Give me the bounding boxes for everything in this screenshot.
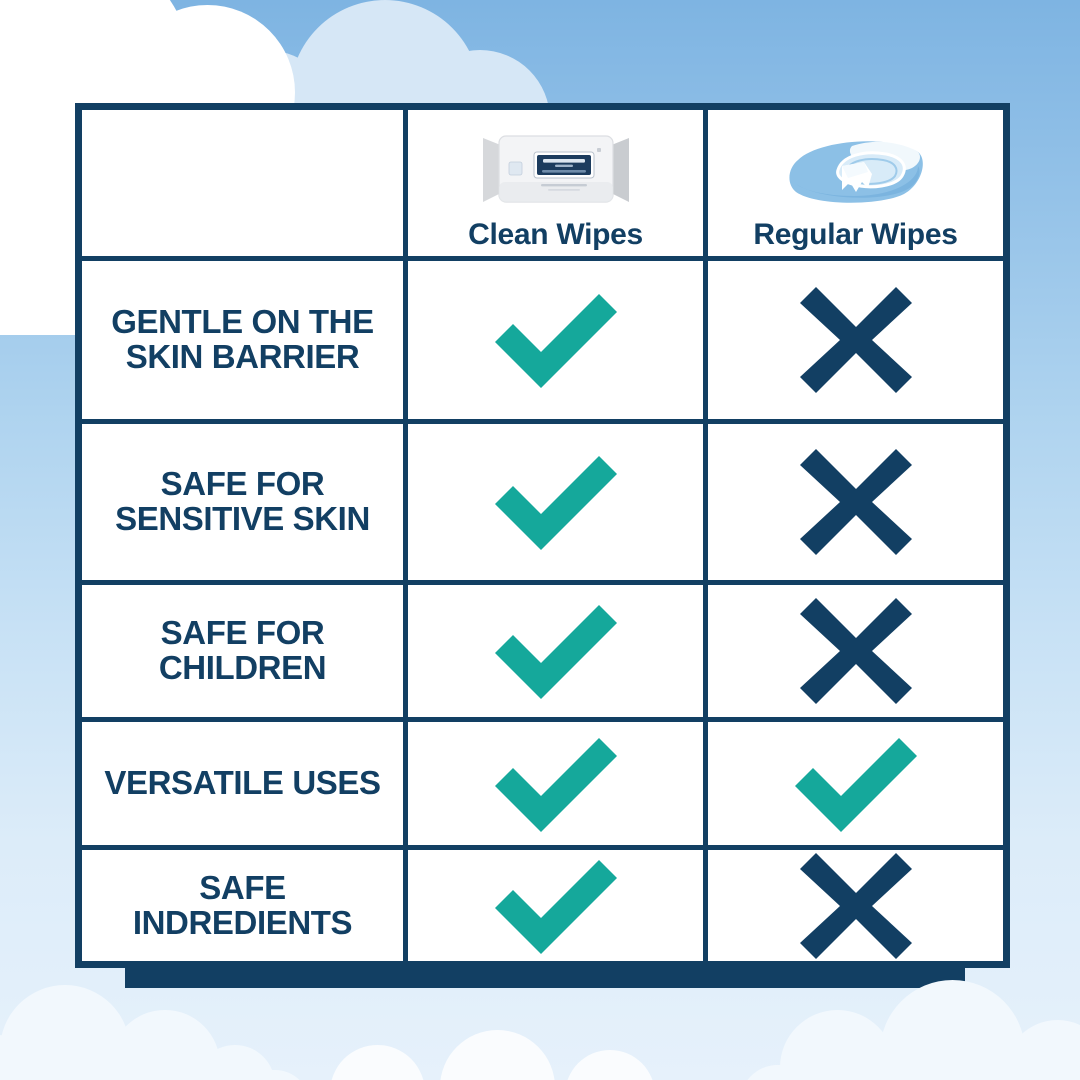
cloud-bottom-center — [300, 1025, 720, 1080]
clean-wipes-cell — [408, 585, 708, 717]
regular-wipes-cell — [708, 424, 1003, 580]
feature-cell: SAFE INDREDIENTS — [82, 850, 408, 961]
table-drop-bar — [125, 966, 965, 988]
clean-wipes-cell — [408, 722, 708, 845]
cross-icon — [794, 281, 918, 399]
regular-wipes-cell — [708, 585, 1003, 717]
table-row: VERSATILE USES — [82, 722, 1003, 850]
table-row: GENTLE ON THE SKIN BARRIER — [82, 261, 1003, 424]
feature-label: VERSATILE USES — [96, 766, 388, 801]
feature-cell: SAFE FOR SENSITIVE SKIN — [82, 424, 408, 580]
header-label-clean-wipes: Clean Wipes — [468, 219, 643, 251]
table-header-row: Clean Wipes — [82, 110, 1003, 261]
wipes-pack-white-icon — [473, 123, 639, 215]
check-icon — [481, 728, 631, 840]
table-row: SAFE FOR CHILDREN — [82, 585, 1003, 722]
header-cell-regular-wipes: Regular Wipes — [708, 110, 1003, 256]
check-icon — [481, 284, 631, 396]
check-icon — [481, 850, 631, 962]
feature-label: SAFE FOR CHILDREN — [82, 616, 403, 686]
regular-wipes-cell — [708, 850, 1003, 961]
feature-cell: VERSATILE USES — [82, 722, 408, 845]
feature-cell: SAFE FOR CHILDREN — [82, 585, 408, 717]
check-icon — [481, 446, 631, 558]
feature-label: SAFE FOR SENSITIVE SKIN — [82, 467, 403, 537]
header-cell-blank — [82, 110, 408, 256]
check-icon — [781, 728, 931, 840]
table-row: SAFE INDREDIENTS — [82, 850, 1003, 961]
regular-wipes-cell — [708, 722, 1003, 845]
clean-wipes-cell — [408, 261, 708, 419]
clean-wipes-cell — [408, 850, 708, 961]
header-cell-clean-wipes: Clean Wipes — [408, 110, 708, 256]
clean-wipes-cell — [408, 424, 708, 580]
comparison-table-wrapper: Clean Wipes — [75, 103, 1010, 968]
cross-icon — [794, 443, 918, 561]
check-icon — [481, 595, 631, 707]
infographic-canvas: Clean Wipes — [0, 0, 1080, 1080]
cloud-bottom-left — [0, 975, 340, 1080]
cross-icon — [794, 592, 918, 710]
comparison-table: Clean Wipes — [75, 103, 1010, 968]
regular-wipes-cell — [708, 261, 1003, 419]
table-row: SAFE FOR SENSITIVE SKIN — [82, 424, 1003, 585]
feature-label: GENTLE ON THE SKIN BARRIER — [82, 305, 403, 375]
cloud-bottom-right — [740, 980, 1080, 1080]
cross-icon — [794, 847, 918, 965]
feature-label: SAFE INDREDIENTS — [82, 871, 403, 941]
feature-cell: GENTLE ON THE SKIN BARRIER — [82, 261, 408, 419]
header-label-regular-wipes: Regular Wipes — [753, 219, 957, 251]
wipes-pack-blue-icon — [772, 123, 940, 215]
